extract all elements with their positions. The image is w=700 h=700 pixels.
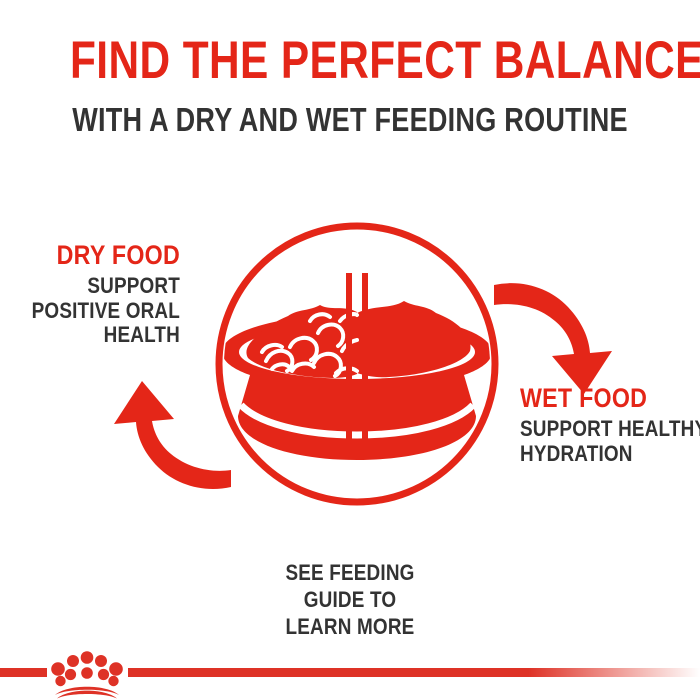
poster-canvas: FIND THE PERFECT BALANCE WITH A DRY AND … [0, 0, 700, 700]
wet-food-desc-line-1: SUPPORT HEALTHY [520, 417, 700, 442]
footer-bar [0, 638, 700, 700]
curved-arrow-down-right-icon [492, 275, 627, 395]
caption-line-1: SEE FEEDING [49, 560, 651, 587]
caption-line-2: GUIDE TO [49, 587, 651, 614]
feeding-guide-caption: SEE FEEDING GUIDE TO LEARN MORE [0, 560, 700, 640]
wet-food-description: SUPPORT HEALTHY HYDRATION [520, 417, 700, 466]
dry-food-label-group: DRY FOOD SUPPORT POSITIVE ORAL HEALTH [0, 240, 180, 348]
dry-food-title: DRY FOOD [0, 240, 180, 270]
footer-rule-right [128, 668, 700, 677]
wet-food-desc-line-2: HYDRATION [520, 442, 700, 467]
caption-line-3: LEARN MORE [49, 614, 651, 641]
dry-food-desc-line-3: HEALTH [0, 323, 180, 348]
footer-rule-left [0, 668, 47, 677]
bowl-divider-left [346, 273, 352, 455]
royal-canin-crown-logo [47, 646, 127, 700]
page-title: FIND THE PERFECT BALANCE [70, 34, 630, 87]
dry-food-desc-line-2: POSITIVE ORAL [0, 299, 180, 324]
wet-food-label-group: WET FOOD SUPPORT HEALTHY HYDRATION [520, 383, 700, 466]
dry-food-description: SUPPORT POSITIVE ORAL HEALTH [0, 274, 180, 348]
bowl-divider-right [362, 273, 368, 455]
page-subtitle: WITH A DRY AND WET FEEDING ROUTINE [63, 103, 637, 136]
headline-block: FIND THE PERFECT BALANCE WITH A DRY AND … [0, 34, 700, 136]
dry-food-desc-line-1: SUPPORT [0, 274, 180, 299]
curved-arrow-up-left-icon [92, 375, 232, 500]
split-feeding-bowl-icon [214, 221, 500, 507]
